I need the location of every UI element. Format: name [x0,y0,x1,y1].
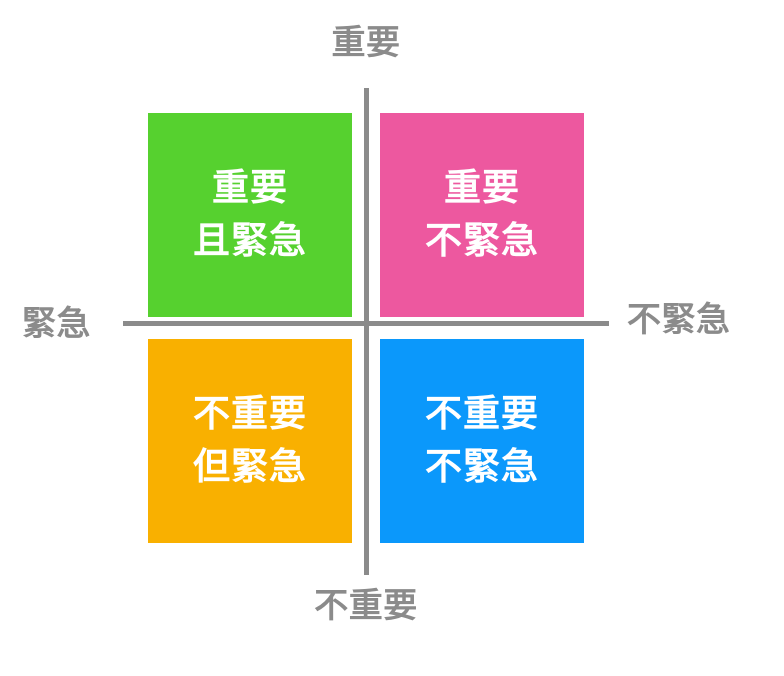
quadrant-text-line2: 不緊急 [425,215,539,268]
quadrant-text-line1: 重要 [212,162,288,215]
axis-label-right: 不緊急 [627,303,731,337]
quadrant-not-important-not-urgent[interactable]: 不重要 不緊急 [380,339,584,543]
axis-label-left: 緊急 [22,307,91,341]
axis-label-bottom: 不重要 [0,589,732,623]
vertical-axis-line [364,88,369,575]
quadrant-important-urgent[interactable]: 重要 且緊急 [148,113,352,317]
axis-label-top: 重要 [0,26,732,60]
quadrant-text-line1: 不重要 [193,388,307,441]
quadrant-not-important-urgent[interactable]: 不重要 但緊急 [148,339,352,543]
quadrant-text-line2: 不緊急 [425,441,539,494]
quadrant-text-line1: 不重要 [425,388,539,441]
horizontal-axis-line [123,321,609,326]
priority-matrix-diagram: 重要 不重要 緊急 不緊急 重要 且緊急 重要 不緊急 不重要 但緊急 不重要 … [0,0,784,676]
quadrant-text-line2: 但緊急 [193,441,307,494]
quadrant-text-line1: 重要 [444,162,520,215]
quadrant-text-line2: 且緊急 [193,215,307,268]
quadrant-important-not-urgent[interactable]: 重要 不緊急 [380,113,584,317]
